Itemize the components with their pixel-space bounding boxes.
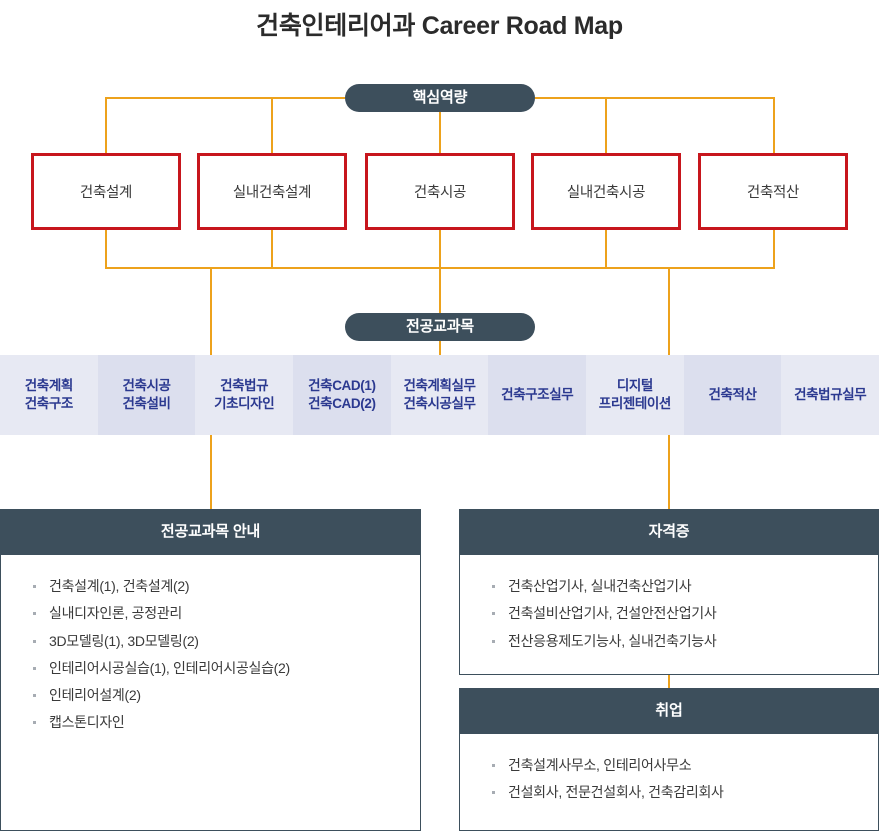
subject-cell-3-line2: 기초디자인 xyxy=(214,395,274,413)
panel-job-list: 건축설계사무소, 인테리어사무소 건설회사, 전문건설회사, 건축감리회사 xyxy=(460,734,878,819)
panel-guide-list: 건축설계(1), 건축설계(2) 실내디자인론, 공정관리 3D모델링(1), … xyxy=(1,555,420,749)
panel-major-subject-guide: 전공교과목 안내 건축설계(1), 건축설계(2) 실내디자인론, 공정관리 3… xyxy=(0,509,421,831)
subject-cell-6-line1: 건축구조실무 xyxy=(501,386,573,404)
subject-cell-3[interactable]: 건축법규 기초디자인 xyxy=(195,355,293,435)
list-item: 건축설계사무소, 인테리어사무소 xyxy=(490,752,878,779)
list-item: 건축설계(1), 건축설계(2) xyxy=(31,573,420,600)
panel-certification: 자격증 건축산업기사, 실내건축산업기사 건축설비산업기사, 건설안전산업기사 … xyxy=(459,509,879,675)
subject-cell-8[interactable]: 건축적산 xyxy=(684,355,782,435)
panel-employment: 취업 건축설계사무소, 인테리어사무소 건설회사, 전문건설회사, 건축감리회사 xyxy=(459,688,879,831)
competency-box-2[interactable]: 실내건축설계 xyxy=(197,153,347,230)
connector-panel-drop-guide xyxy=(210,435,212,509)
page-title: 건축인테리어과 Career Road Map xyxy=(0,6,879,42)
competency-box-5[interactable]: 건축적산 xyxy=(698,153,848,230)
connector-subject-drop-center-upper xyxy=(439,267,441,313)
subject-cell-1[interactable]: 건축계획 건축구조 xyxy=(0,355,98,435)
connector-box-down-2 xyxy=(271,230,273,268)
subject-cell-6[interactable]: 건축구조실무 xyxy=(488,355,586,435)
panel-cert-list: 건축산업기사, 실내건축산업기사 건축설비산업기사, 건설안전산업기사 전산응용… xyxy=(460,555,878,667)
list-item: 전산응용제도기능사, 실내건축기능사 xyxy=(490,628,878,655)
subject-cell-4-line2: 건축CAD(2) xyxy=(308,395,375,413)
subject-cell-5-line1: 건축계획실무 xyxy=(403,377,475,395)
list-item: 건설회사, 전문건설회사, 건축감리회사 xyxy=(490,779,878,806)
connector-core-drop-3 xyxy=(439,112,441,153)
subject-strip: 건축계획 건축구조 건축시공 건축설비 건축법규 기초디자인 건축CAD(1) … xyxy=(0,355,879,435)
connector-subject-drop-right xyxy=(668,267,670,355)
list-item: 건축설비산업기사, 건설안전산업기사 xyxy=(490,600,878,627)
badge-major-subjects: 전공교과목 xyxy=(345,313,535,341)
connector-subject-drop-left xyxy=(210,267,212,355)
panel-cert-body: 건축산업기사, 실내건축산업기사 건축설비산업기사, 건설안전산업기사 전산응용… xyxy=(459,555,879,675)
connector-box-down-5 xyxy=(773,230,775,268)
list-item: 캡스톤디자인 xyxy=(31,709,420,736)
list-item: 건축산업기사, 실내건축산업기사 xyxy=(490,573,878,600)
panel-guide-body: 건축설계(1), 건축설계(2) 실내디자인론, 공정관리 3D모델링(1), … xyxy=(0,555,421,831)
connector-core-bus-left xyxy=(105,97,345,99)
list-item: 3D모델링(1), 3D모델링(2) xyxy=(31,628,420,655)
subject-cell-5[interactable]: 건축계획실무 건축시공실무 xyxy=(391,355,489,435)
panel-job-title: 취업 xyxy=(459,688,879,734)
subject-cell-9-line1: 건축법규실무 xyxy=(794,386,866,404)
subject-cell-4-line1: 건축CAD(1) xyxy=(308,377,375,395)
list-item: 실내디자인론, 공정관리 xyxy=(31,600,420,627)
connector-core-drop-4 xyxy=(605,97,607,153)
connector-core-drop-5 xyxy=(773,97,775,153)
panel-job-body: 건축설계사무소, 인테리어사무소 건설회사, 전문건설회사, 건축감리회사 xyxy=(459,734,879,831)
subject-cell-3-line1: 건축법규 xyxy=(220,377,268,395)
competency-box-3[interactable]: 건축시공 xyxy=(365,153,515,230)
connector-box-down-4 xyxy=(605,230,607,268)
subject-cell-9[interactable]: 건축법규실무 xyxy=(781,355,879,435)
subject-cell-7[interactable]: 디지털 프리젠테이션 xyxy=(586,355,684,435)
subject-cell-1-line2: 건축구조 xyxy=(25,395,73,413)
list-item: 인테리어시공실습(1), 인테리어시공실습(2) xyxy=(31,655,420,682)
subject-cell-2-line1: 건축시공 xyxy=(122,377,170,395)
connector-core-drop-2 xyxy=(271,97,273,153)
subject-cell-7-line1: 디지털 xyxy=(617,377,653,395)
connector-panel-drop-cert xyxy=(668,435,670,509)
connector-core-bus-right xyxy=(535,97,775,99)
badge-core-competency: 핵심역량 xyxy=(345,84,535,112)
subject-cell-8-line1: 건축적산 xyxy=(708,386,756,404)
subject-cell-2-line2: 건축설비 xyxy=(122,395,170,413)
subject-cell-2[interactable]: 건축시공 건축설비 xyxy=(98,355,196,435)
connector-box-down-3 xyxy=(439,230,441,268)
subject-cell-4[interactable]: 건축CAD(1) 건축CAD(2) xyxy=(293,355,391,435)
list-item: 인테리어설계(2) xyxy=(31,682,420,709)
connector-subject-drop-center-lower xyxy=(439,341,441,355)
panel-guide-title: 전공교과목 안내 xyxy=(0,509,421,555)
competency-box-1[interactable]: 건축설계 xyxy=(31,153,181,230)
connector-box-down-1 xyxy=(105,230,107,268)
competency-box-4[interactable]: 실내건축시공 xyxy=(531,153,681,230)
subject-cell-7-line2: 프리젠테이션 xyxy=(599,395,671,413)
panel-cert-title: 자격증 xyxy=(459,509,879,555)
subject-cell-5-line2: 건축시공실무 xyxy=(403,395,475,413)
connector-core-drop-1 xyxy=(105,97,107,153)
subject-cell-1-line1: 건축계획 xyxy=(25,377,73,395)
